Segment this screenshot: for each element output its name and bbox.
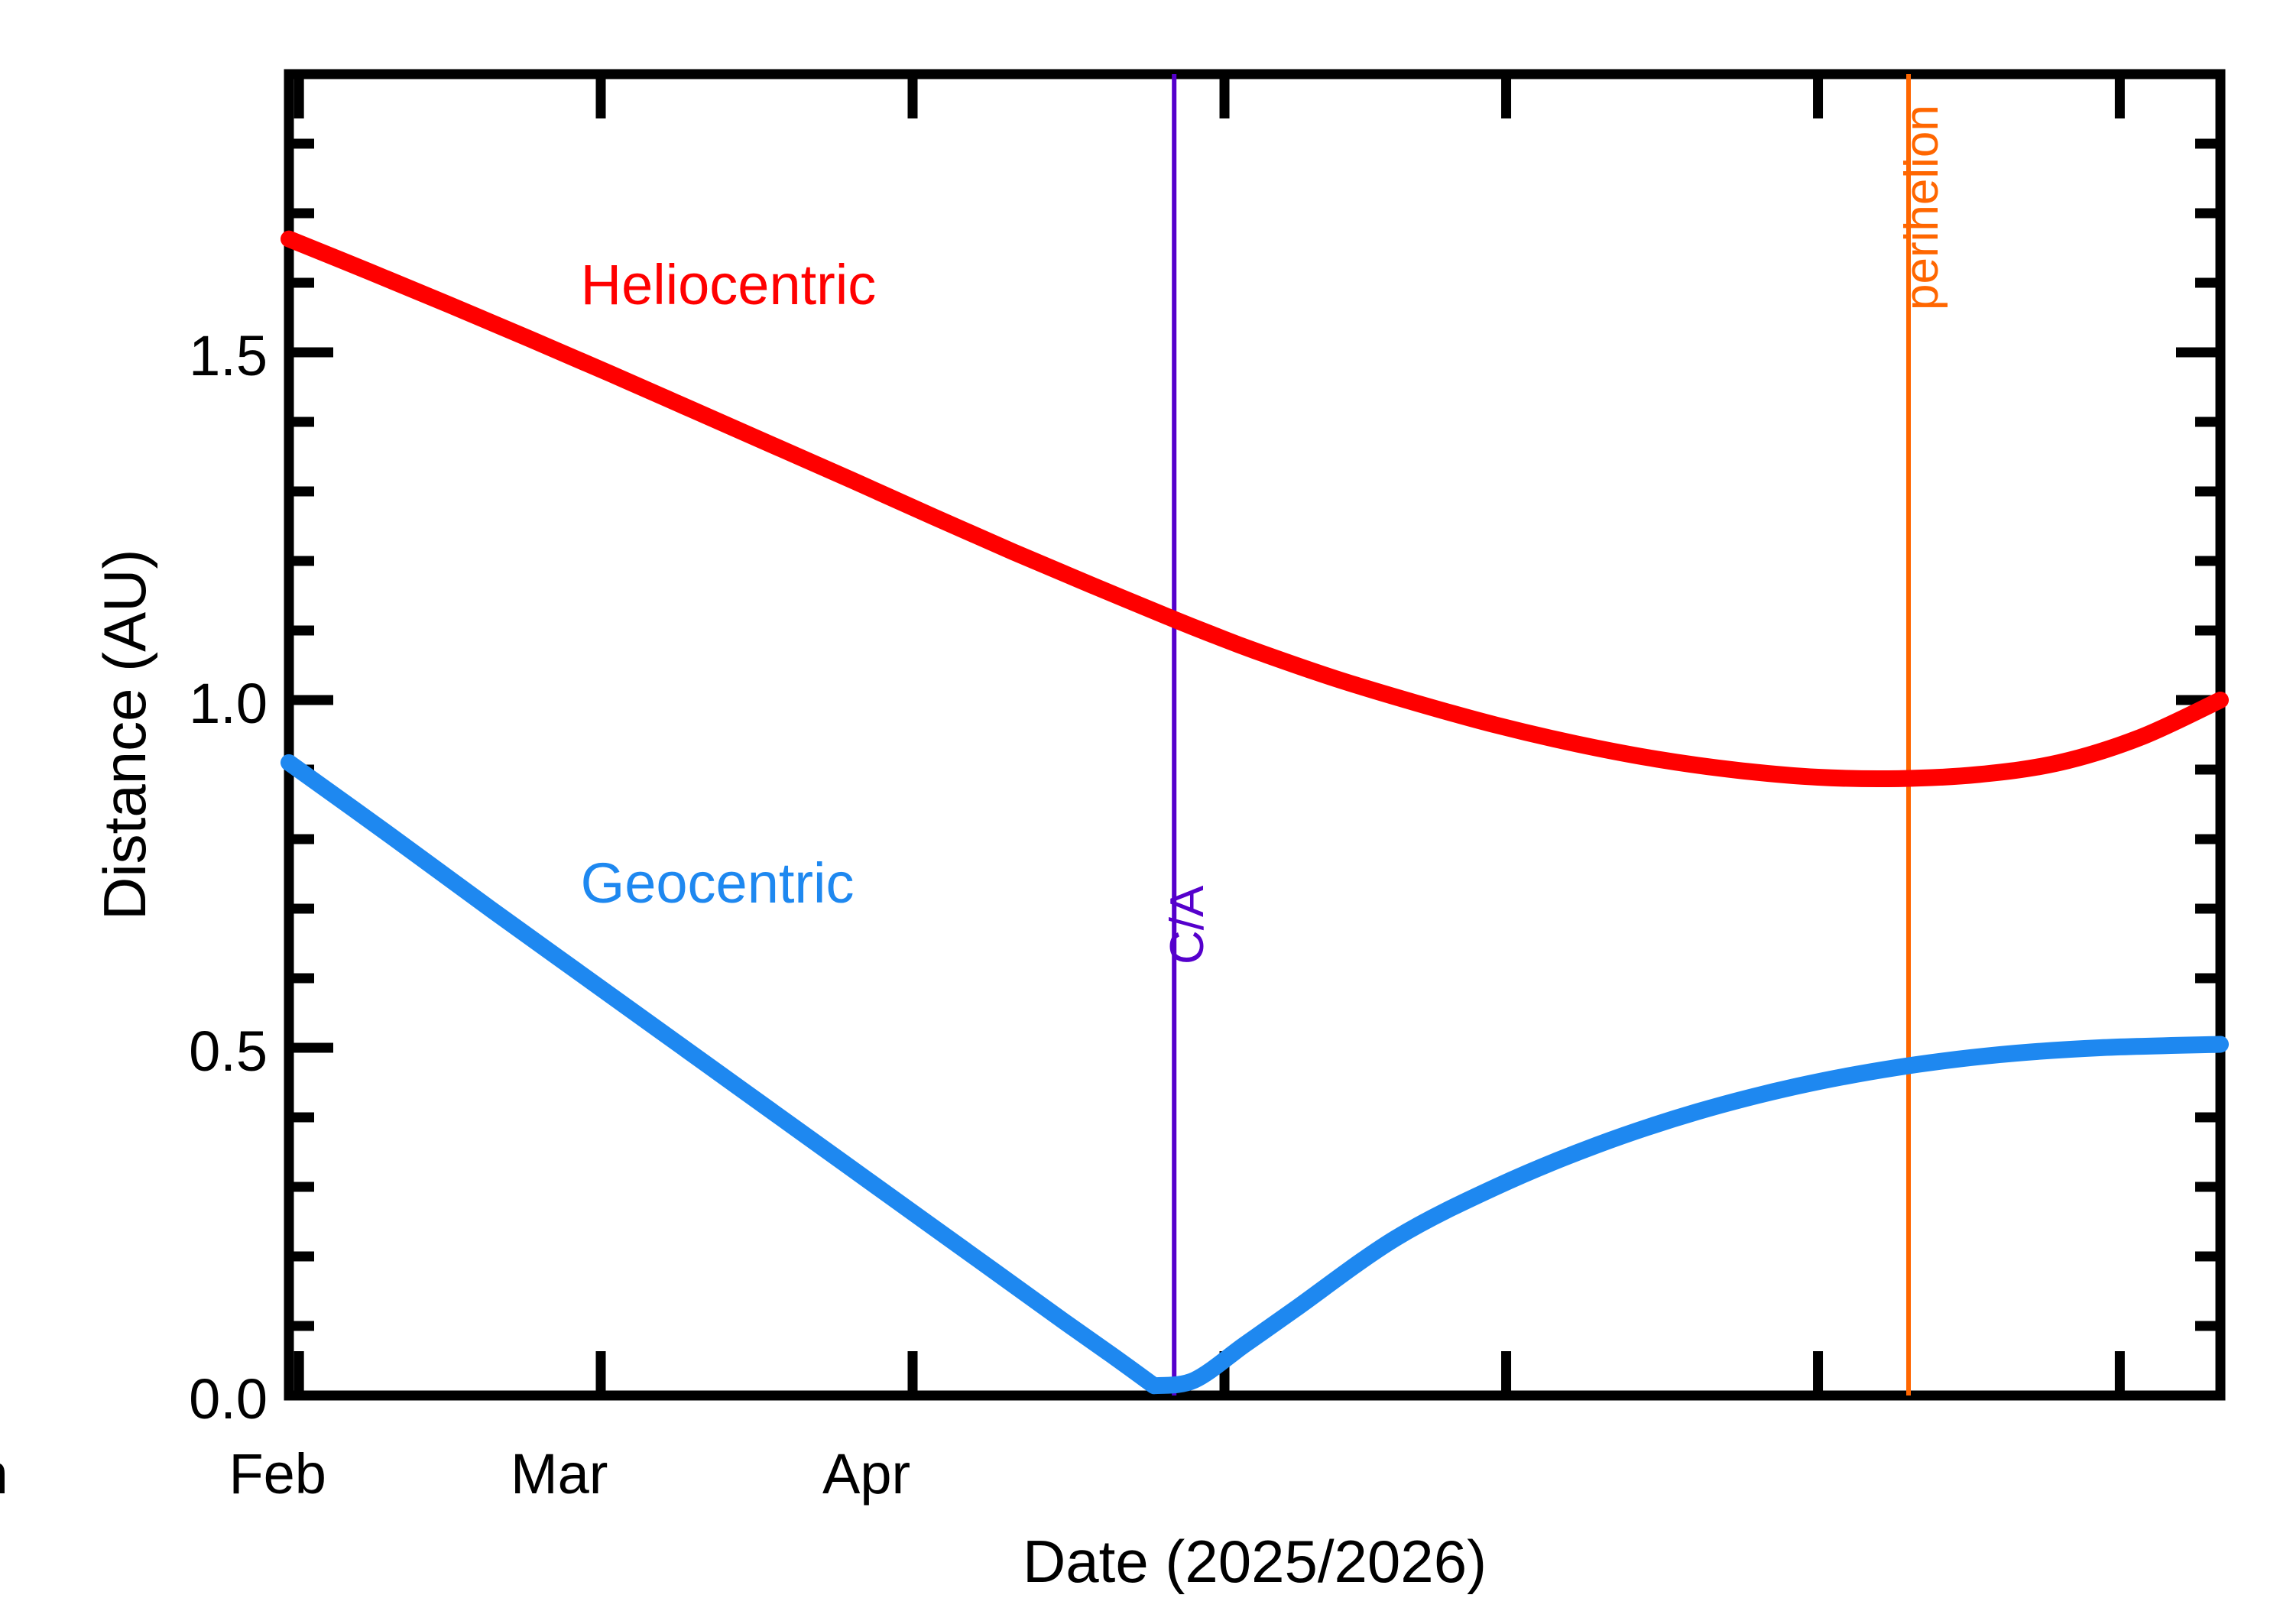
y-tick-label: 0.5 — [189, 1019, 268, 1084]
chart-figure: Distance (AU) Date (2025/2026) 0.00.51.0… — [0, 0, 2293, 1624]
geocentric-line — [289, 763, 2220, 1386]
y-axis-title: Distance (AU) — [90, 549, 160, 920]
x-tick-label: Apr — [822, 1441, 910, 1506]
heliocentric-line — [289, 239, 2220, 779]
x-axis-title: Date (2025/2026) — [109, 1527, 2293, 1596]
series-label-geocentric: Geocentric — [581, 851, 855, 916]
plot-canvas — [0, 0, 2293, 1624]
annotation-label-CA: C/A — [1160, 885, 1215, 964]
y-tick-label: 1.0 — [189, 671, 268, 736]
x-tick-label: Mar — [511, 1441, 608, 1506]
series-label-heliocentric: Heliocentric — [581, 252, 877, 317]
y-tick-label: 1.5 — [189, 323, 268, 388]
x-tick-label: Feb — [229, 1441, 326, 1506]
annotation-label-perihelion: perihelion — [1895, 105, 1949, 311]
x-tick-label: Jan — [0, 1441, 8, 1506]
y-tick-label: 0.0 — [189, 1366, 268, 1431]
